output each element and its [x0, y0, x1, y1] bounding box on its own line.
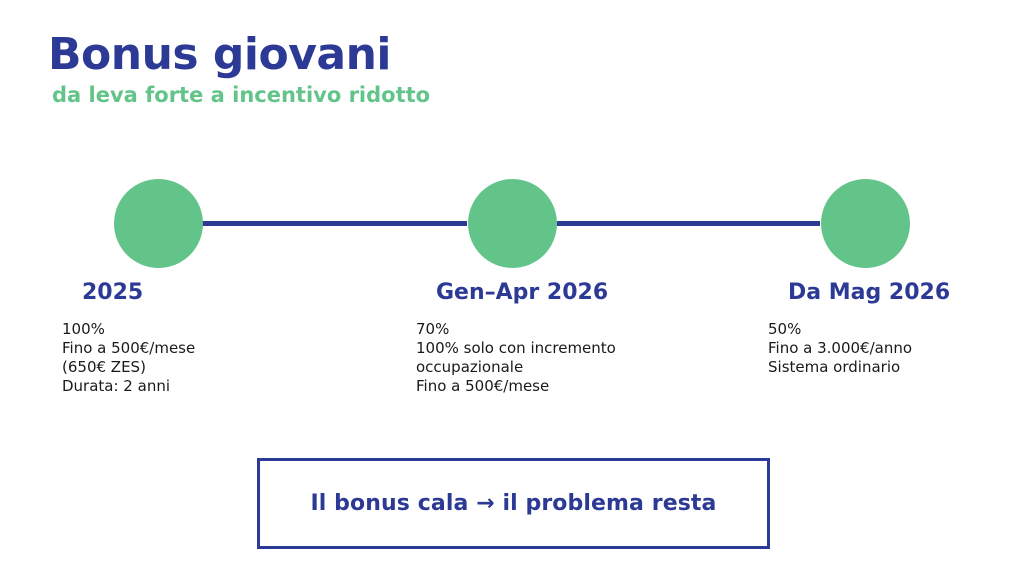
timeline-column-2025: 2025 100% Fino a 500€/mese (650€ ZES) Du…	[56, 280, 386, 396]
page-subtitle: da leva forte a incentivo ridotto	[52, 84, 948, 107]
column-line: Fino a 3.000€/anno	[768, 339, 1012, 358]
callout-box: Il bonus cala → il problema resta	[257, 458, 770, 549]
column-heading-gen-apr-2026: Gen–Apr 2026	[436, 280, 750, 305]
column-heading-2025: 2025	[82, 280, 386, 305]
timeline-column-gen-apr-2026: Gen–Apr 2026 70% 100% solo con increment…	[410, 280, 750, 396]
timeline-node-gen-apr-2026	[468, 179, 557, 268]
column-line: 70%	[416, 320, 750, 339]
column-line: Fino a 500€/mese	[62, 339, 386, 358]
column-body-da-mag-2026: 50% Fino a 3.000€/anno Sistema ordinario	[768, 320, 1012, 377]
column-body-2025: 100% Fino a 500€/mese (650€ ZES) Durata:…	[62, 320, 386, 396]
column-line: Fino a 500€/mese	[416, 377, 750, 396]
timeline-column-da-mag-2026: Da Mag 2026 50% Fino a 3.000€/anno Siste…	[762, 280, 1012, 377]
column-line: (650€ ZES)	[62, 358, 386, 377]
column-line: 100%	[62, 320, 386, 339]
timeline-node-2025	[114, 179, 203, 268]
timeline-connector-2	[557, 221, 820, 226]
column-line: 100% solo con incremento	[416, 339, 750, 358]
column-line: occupazionale	[416, 358, 750, 377]
callout-text: Il bonus cala → il problema resta	[311, 491, 717, 516]
column-line: Durata: 2 anni	[62, 377, 386, 396]
timeline-node-da-mag-2026	[821, 179, 910, 268]
column-heading-da-mag-2026: Da Mag 2026	[788, 280, 1012, 305]
timeline-connector-1	[202, 221, 467, 226]
header: Bonus giovani da leva forte a incentivo …	[48, 32, 948, 107]
column-body-gen-apr-2026: 70% 100% solo con incremento occupaziona…	[416, 320, 750, 396]
slide-canvas: Bonus giovani da leva forte a incentivo …	[0, 0, 1024, 576]
column-line: 50%	[768, 320, 1012, 339]
column-line: Sistema ordinario	[768, 358, 1012, 377]
page-title: Bonus giovani	[48, 32, 948, 78]
